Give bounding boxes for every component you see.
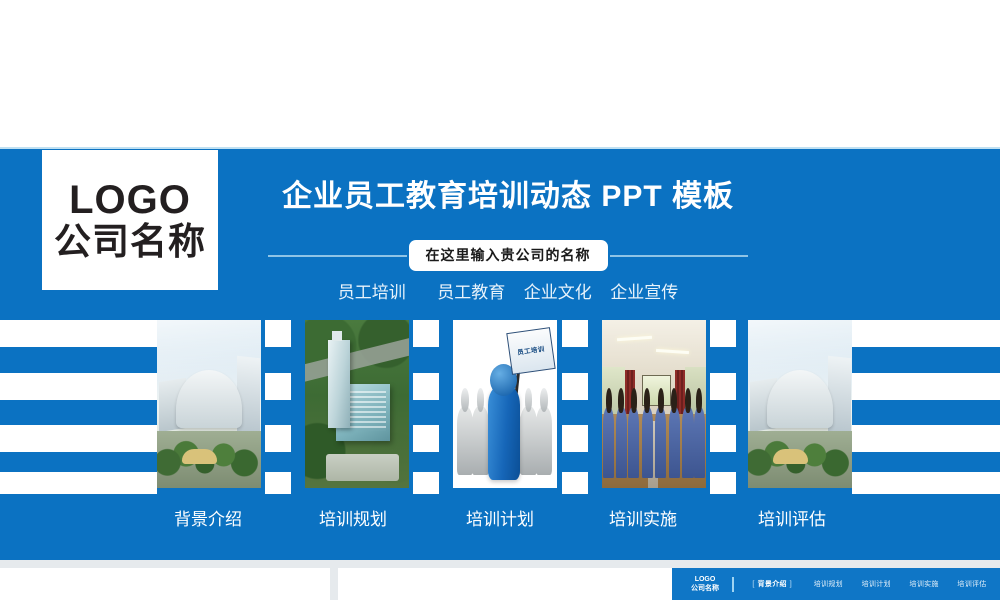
filmstrip-photo-1[interactable] <box>305 320 409 488</box>
bottom-nav-item-1[interactable]: 培训规划 <box>814 579 843 589</box>
sprocket-hole-right-3 <box>852 425 1000 452</box>
trainee-5 <box>655 407 666 478</box>
trainee-4 <box>642 407 653 478</box>
sprocket-hole-left-2 <box>0 373 157 400</box>
bottom-bar-logo-sub: 公司名称 <box>682 584 728 593</box>
sprocket-hole-mid-2-b <box>413 373 439 400</box>
sprocket-hole-right-2 <box>852 373 1000 400</box>
vertical-divider <box>330 568 338 600</box>
crowd-figure-5 <box>520 406 536 474</box>
sprocket-hole-mid-2-c <box>413 425 439 452</box>
sprocket-hole-left-1 <box>0 320 157 347</box>
trainee-2 <box>616 407 627 478</box>
bottom-bar-logo-main: LOGO <box>682 575 728 584</box>
keyword-3: 企业宣传 <box>610 278 678 303</box>
sprocket-hole-mid-3-c <box>562 425 588 452</box>
filmstrip-photo-4[interactable] <box>748 320 852 488</box>
bottom-nav-item-4[interactable]: 培训评估 <box>957 579 986 589</box>
logo-placeholder-box[interactable]: LOGO 公司名称 <box>42 150 218 290</box>
sprocket-hole-mid-3-a <box>562 320 588 347</box>
caption-4[interactable]: 培训评估 <box>727 505 857 530</box>
bottom-bar-accent-bar <box>732 577 734 592</box>
sprocket-hole-mid-4-a <box>710 320 736 347</box>
sprocket-hole-mid-3-d <box>562 472 588 494</box>
caption-3[interactable]: 培训实施 <box>578 505 708 530</box>
under-band-grey-strip <box>0 560 1000 568</box>
sprocket-hole-right-4 <box>852 472 1000 494</box>
filmstrip-photo-3[interactable] <box>602 320 706 488</box>
caption-2[interactable]: 培训计划 <box>435 505 565 530</box>
bottom-nav-label-0: 背景介绍 <box>758 581 787 588</box>
training-sign-text: 员工培训 <box>517 345 546 358</box>
sprocket-hole-mid-1-b <box>265 373 291 400</box>
pill-line-left <box>268 255 407 257</box>
sprocket-hole-mid-1-a <box>265 320 291 347</box>
entrance-awning <box>773 449 808 464</box>
crowd-figure-2 <box>472 406 488 474</box>
keyword-0: 员工培训 <box>338 278 406 303</box>
photo-3-content <box>602 320 706 488</box>
company-name-pill[interactable]: 在这里输入贵公司的名称 <box>409 240 608 271</box>
crowd-figure-1 <box>457 406 473 474</box>
bottom-nav-item-0[interactable]: [背景介绍] <box>749 579 795 589</box>
bottom-bar-menu: [背景介绍] 培训规划 培训计划 培训实施 培训评估 <box>740 579 1000 589</box>
sprocket-hole-right-1 <box>852 320 1000 347</box>
office-tower <box>328 340 350 427</box>
photo-1-content <box>305 320 409 488</box>
photo-4-content <box>748 320 852 488</box>
sprocket-hole-mid-2-a <box>413 320 439 347</box>
trainee-8 <box>694 407 705 478</box>
sprocket-hole-mid-4-d <box>710 472 736 494</box>
bottom-bar-logo[interactable]: LOGO 公司名称 <box>682 575 728 593</box>
bottom-navigation-bar: LOGO 公司名称 [背景介绍] 培训规划 培训计划 培训实施 培训评估 <box>672 568 1000 600</box>
bottom-nav-item-3[interactable]: 培训实施 <box>910 579 939 589</box>
keyword-2: 企业文化 <box>524 278 592 303</box>
filmstrip-photo-0[interactable] <box>157 320 261 488</box>
sprocket-hole-left-4 <box>0 472 157 494</box>
trainee-3 <box>628 407 639 478</box>
sprocket-hole-mid-3-b <box>562 373 588 400</box>
keyword-row: 员工培训 员工教育 企业文化 企业宣传 <box>248 278 768 303</box>
bracket-open: [ <box>752 581 754 588</box>
sprocket-hole-mid-1-d <box>265 472 291 494</box>
presentation-slide: LOGO 公司名称 企业员工教育培训动态 PPT 模板 在这里输入贵公司的名称 … <box>0 0 1000 600</box>
pill-line-right <box>610 255 749 257</box>
caption-row: 背景介绍 培训规划 培训计划 培训实施 培训评估 <box>0 505 1000 535</box>
trainee-group <box>602 360 706 478</box>
filmstrip-photo-2[interactable]: 员工培训 <box>453 320 557 488</box>
photo-2-content: 员工培训 <box>453 320 557 488</box>
trainee-7 <box>682 407 693 478</box>
bottom-nav-item-2[interactable]: 培训计划 <box>862 579 891 589</box>
trainee-1 <box>603 407 614 478</box>
sprocket-hole-mid-4-c <box>710 425 736 452</box>
photo-0-content <box>157 320 261 488</box>
keyword-1: 员工教育 <box>437 278 505 303</box>
filmstrip: 员工培训 <box>0 320 1000 488</box>
sprocket-hole-left-3 <box>0 425 157 452</box>
training-sign: 员工培训 <box>506 327 555 375</box>
caption-1[interactable]: 培训规划 <box>288 505 418 530</box>
caption-0[interactable]: 背景介绍 <box>143 505 273 530</box>
sprocket-hole-mid-4-b <box>710 373 736 400</box>
crowd-figure-6 <box>536 406 552 474</box>
plaza-area <box>326 454 399 481</box>
logo-main-text: LOGO <box>69 179 191 221</box>
entrance-awning <box>182 449 217 464</box>
slide-headline: 企业员工教育培训动态 PPT 模板 <box>248 171 768 215</box>
trainee-6 <box>669 407 680 478</box>
sprocket-hole-mid-1-c <box>265 425 291 452</box>
company-name-row: 在这里输入贵公司的名称 <box>268 240 748 271</box>
blue-3d-figure-body <box>488 386 519 480</box>
sprocket-hole-mid-2-d <box>413 472 439 494</box>
logo-company-name-text: 公司名称 <box>54 223 206 262</box>
bracket-close: ] <box>790 581 792 588</box>
